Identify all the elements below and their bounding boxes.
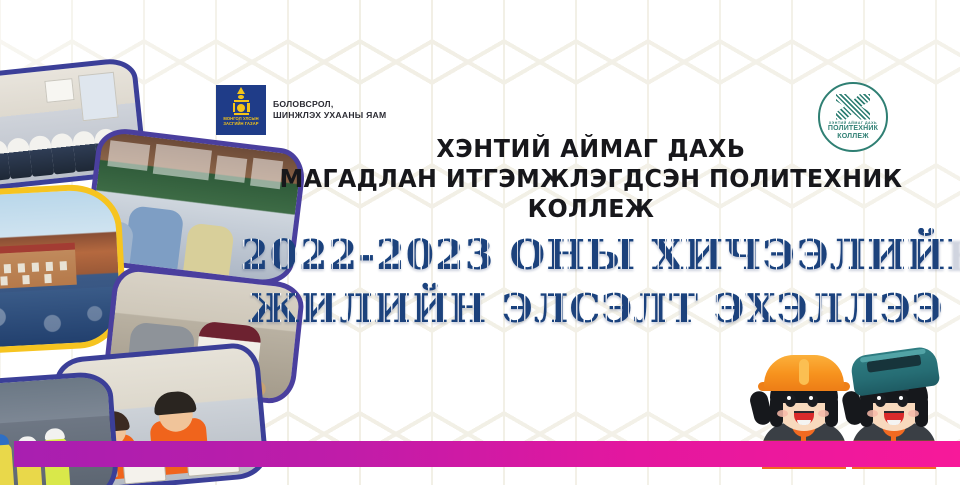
mongolia-government-emblem-icon: МОНГОЛ УЛСЫН ЗАСГИЙН ГАЗАР	[216, 85, 266, 135]
announcement-line-2: ЖИЛИЙН ЭЛСЭЛТ ЭХЭЛЛЭЭ	[240, 282, 952, 336]
ministry-logo: МОНГОЛ УЛСЫН ЗАСГИЙН ГАЗАР БОЛОВСРОЛ, ШИ…	[216, 85, 386, 135]
headline-line-1: ХЭНТИЙ АЙМАГ ДАХЬ	[248, 134, 934, 164]
photo-site-visit-helmets	[0, 370, 120, 485]
soyombo-icon	[233, 87, 250, 115]
orange-hard-hat-icon	[764, 355, 844, 389]
admission-banner: МОНГОЛ УЛСЫН ЗАСГИЙН ГАЗАР БОЛОВСРОЛ, ШИ…	[0, 0, 960, 485]
emblem-caption: МОНГОЛ УЛСЫН ЗАСГИЙН ГАЗАР	[223, 116, 258, 126]
endless-knot-icon	[836, 94, 870, 120]
headline-line-2: МАГАДЛАН ИТГЭМЖЛЭГДСЭН ПОЛИТЕХНИК КОЛЛЕЖ	[248, 164, 934, 224]
announcement-line-1: 2022-2023 ОНЫ ХИЧЭЭЛИЙН	[240, 228, 952, 282]
page-title: ХЭНТИЙ АЙМАГ ДАХЬ МАГАДЛАН ИТГЭМЖЛЭГДСЭН…	[230, 134, 952, 224]
announcement-title: 2022-2023 ОНЫ ХИЧЭЭЛИЙН ЖИЛИЙН ЭЛСЭЛТ ЭХ…	[240, 228, 952, 336]
ministry-name: БОЛОВСРОЛ, ШИНЖЛЭХ УХААНЫ ЯАМ	[273, 99, 386, 121]
bottom-accent-bar	[14, 441, 960, 467]
